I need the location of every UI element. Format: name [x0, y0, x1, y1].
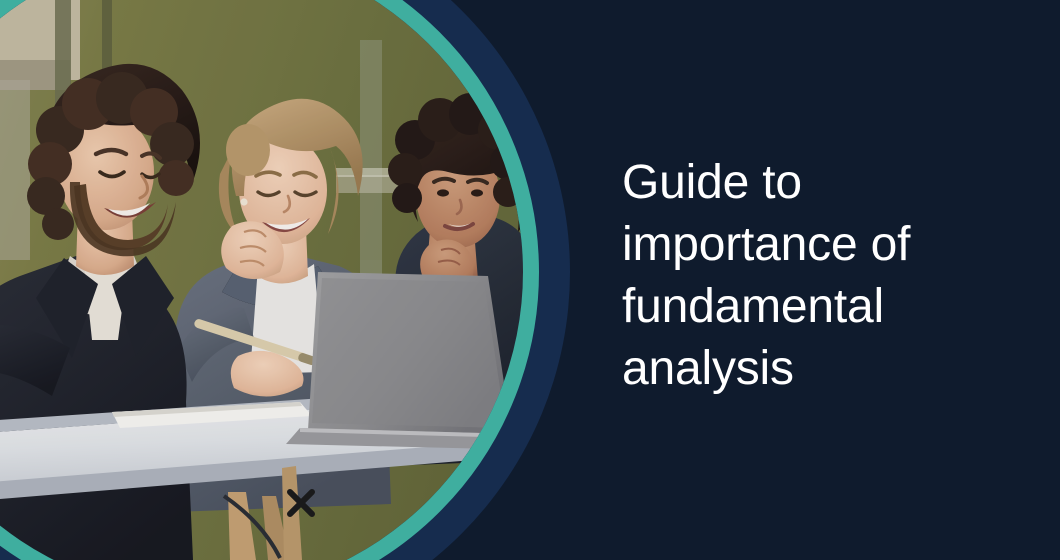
title-line-4: analysis — [622, 338, 1002, 400]
title-line-1: Guide to — [622, 152, 1002, 214]
title-line-3: fundamental — [622, 276, 1002, 338]
title-line-2: importance of — [622, 214, 1002, 276]
marketing-banner: Guide to importance of fundamental analy… — [0, 0, 1060, 560]
page-title: Guide to importance of fundamental analy… — [622, 152, 1002, 400]
